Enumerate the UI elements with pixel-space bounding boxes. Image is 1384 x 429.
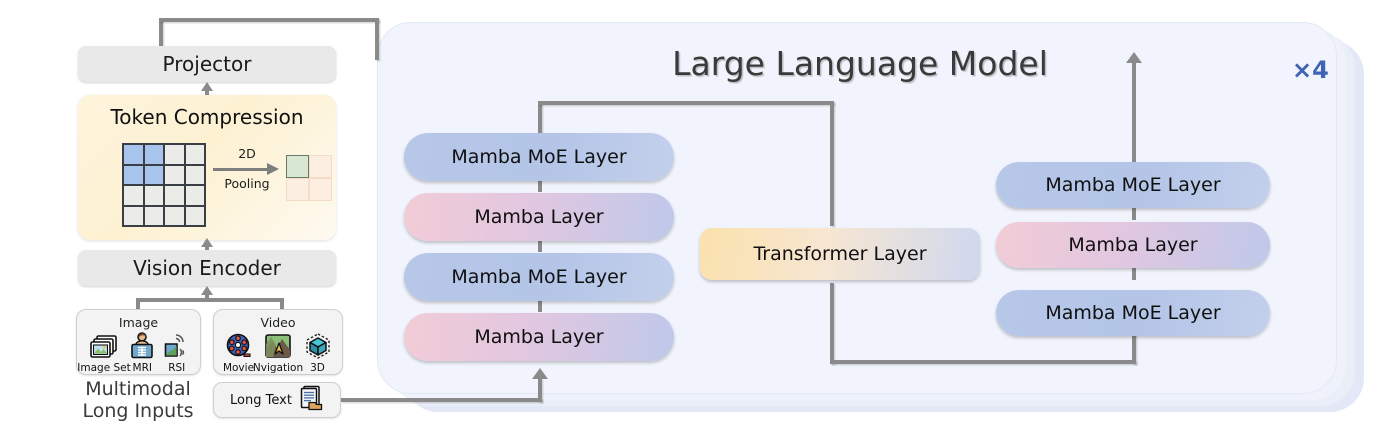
input-item-label: MRI [133,362,152,374]
layer-pill-mamba-moe-right-1[interactable]: Mamba MoE Layer [996,162,1270,208]
input-card-image[interactable]: Image Image Set [76,309,201,375]
projector-feedback-down [375,18,379,60]
layer-pill-mamba-moe-right-2[interactable]: Mamba MoE Layer [996,290,1270,336]
projector-feedback-vertical [159,18,163,48]
cube-3d-icon [304,330,332,360]
moe-to-transformer-across [538,101,834,105]
pooling-arrow-icon [211,162,283,176]
multimodal-inputs-line1: Multimodal [58,378,218,400]
long-text-label: Long Text [230,393,292,408]
transformer-out-down [830,283,834,364]
diagram-canvas: Large Language Model ×4 Mamba MoE Layer … [0,0,1384,429]
arrow-tc-to-projector-head [201,82,213,91]
layer-pill-mamba-moe-left-1[interactable]: Mamba MoE Layer [404,133,674,181]
layer-label: Mamba Layer [1068,234,1197,256]
vision-encoder-label: Vision Encoder [133,256,281,280]
llm-title: Large Language Model [560,44,1160,83]
layer-pill-mamba-left-1[interactable]: Mamba Layer [404,193,674,241]
layer-label: Mamba MoE Layer [451,266,626,288]
input-item-rsi[interactable]: RSI [160,330,195,374]
moe-to-transformer-down [830,101,834,226]
input-item-movie[interactable]: Movie [220,330,257,374]
input-item-label: Nvigation [253,362,303,374]
stub-right-1 [1132,208,1136,220]
input-card-caption: Image [77,315,200,330]
longtext-connector-arrow [532,368,548,379]
rsi-satellite-icon [163,330,191,360]
layer-pill-mamba-left-2[interactable]: Mamba Layer [404,313,674,361]
layer-label: Mamba MoE Layer [1045,174,1220,196]
longtext-connector-across [341,398,542,402]
layer-pill-transformer[interactable]: Transformer Layer [700,228,980,280]
layer-label: Mamba Layer [474,206,603,228]
movie-reel-icon [225,330,253,360]
layer-pill-mamba-moe-left-2[interactable]: Mamba MoE Layer [404,253,674,301]
projector-box[interactable]: Projector [78,46,336,82]
arrow-ve-to-tc-head [201,238,213,247]
navigation-map-icon [264,330,292,360]
input-item-image-set[interactable]: Image Set [83,330,125,374]
input-item-3d[interactable]: 3D [299,330,336,374]
mri-icon [129,330,155,360]
input-item-label: 3D [310,362,325,374]
input-card-caption: Video [214,315,342,330]
token-compression-title: Token Compression [78,105,336,129]
stub-left-3 [538,300,542,312]
input-branch-arrow [201,286,213,295]
pooling-operation: 2D Pooling [211,147,283,192]
llm-output-arrow [1126,52,1142,63]
input-branch-bar [136,298,284,302]
moe-to-transformer-up [538,101,542,135]
layer-label: Mamba MoE Layer [1045,302,1220,324]
layer-label: Mamba MoE Layer [451,146,626,168]
multimodal-inputs-label: Multimodal Long Inputs [58,378,218,423]
llm-output-line [1132,62,1136,170]
stub-right-2 [1132,268,1136,280]
long-text-box[interactable]: Long Text [213,382,341,418]
pooling-output-grid [286,155,332,201]
input-card-video[interactable]: Video Movie [213,309,343,375]
pooling-bottom-label: Pooling [211,177,283,191]
projector-feedback-horizontal [159,18,379,22]
image-set-icon [89,330,119,360]
pooling-top-label: 2D [211,147,283,161]
multimodal-inputs-line2: Long Inputs [58,400,218,422]
longtext-connector-up [538,378,542,402]
stub-left-1 [538,180,542,192]
input-item-navigation[interactable]: Nvigation [257,330,299,374]
repeat-badge: ×4 [1292,56,1329,84]
token-compression-panel: Token Compression 2D Pooling [78,95,336,240]
layer-label: Transformer Layer [753,243,926,265]
input-item-label: Movie [223,362,254,374]
input-item-mri[interactable]: MRI [125,330,160,374]
document-stack-icon [298,385,324,415]
vision-encoder-box[interactable]: Vision Encoder [78,250,336,286]
layer-pill-mamba-right-1[interactable]: Mamba Layer [996,222,1270,268]
stub-left-2 [538,240,542,252]
input-item-label: RSI [168,362,185,374]
pooling-input-grid [122,143,206,227]
layer-label: Mamba Layer [474,326,603,348]
projector-label: Projector [163,52,252,76]
input-item-label: Image Set [77,362,130,374]
transformer-out-across [830,360,1136,364]
